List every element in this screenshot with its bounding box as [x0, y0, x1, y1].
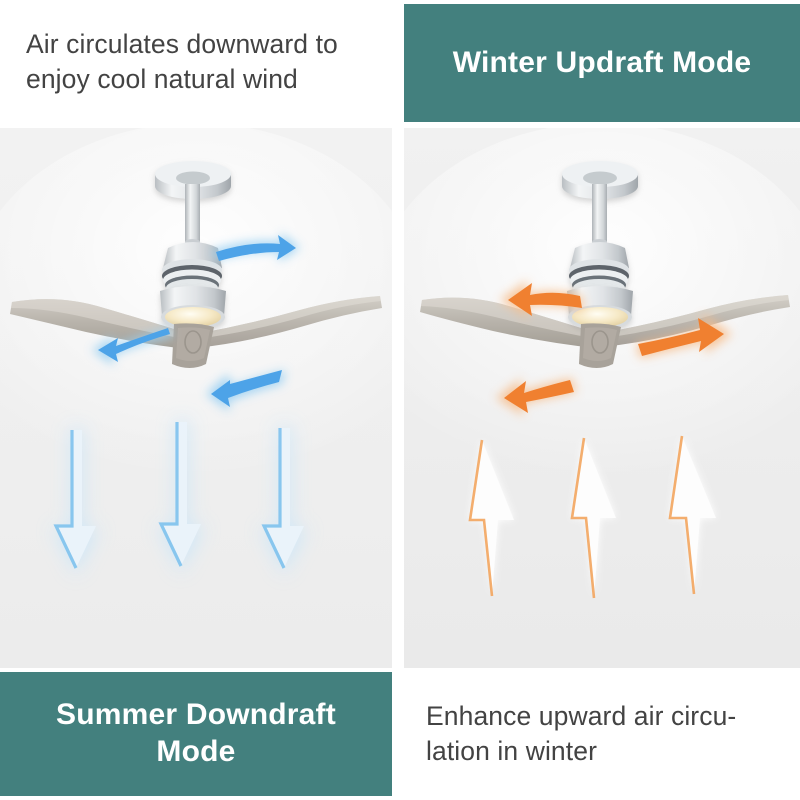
right-caption-text: Enhance upward air circu-lation in winte…	[404, 672, 800, 796]
downrod	[592, 184, 607, 242]
left-illustration-panel	[0, 128, 392, 668]
fan-downdraft-svg	[0, 128, 392, 668]
left-caption-text: Air circulates downward to enjoy cool na…	[0, 0, 392, 124]
right-top-title-cell: Winter Updraft Mode	[404, 4, 800, 122]
summer-downdraft-title: Summer Downdraft Mode	[0, 672, 392, 796]
downrod	[185, 184, 200, 242]
winter-updraft-title: Winter Updraft Mode	[404, 4, 800, 122]
fan-updraft-svg	[404, 128, 800, 668]
left-bottom-title-cell: Summer Downdraft Mode	[0, 672, 392, 796]
comparison-infographic: Air circulates downward to enjoy cool na…	[0, 0, 800, 800]
light-kit	[160, 286, 226, 329]
left-top-caption-cell: Air circulates downward to enjoy cool na…	[0, 0, 392, 124]
right-illustration-panel	[404, 128, 800, 668]
right-bottom-caption-cell: Enhance upward air circu-lation in winte…	[404, 672, 800, 796]
ceiling-fan-updraft-illustration	[404, 128, 800, 668]
ceiling-fan-downdraft-illustration	[0, 128, 392, 668]
